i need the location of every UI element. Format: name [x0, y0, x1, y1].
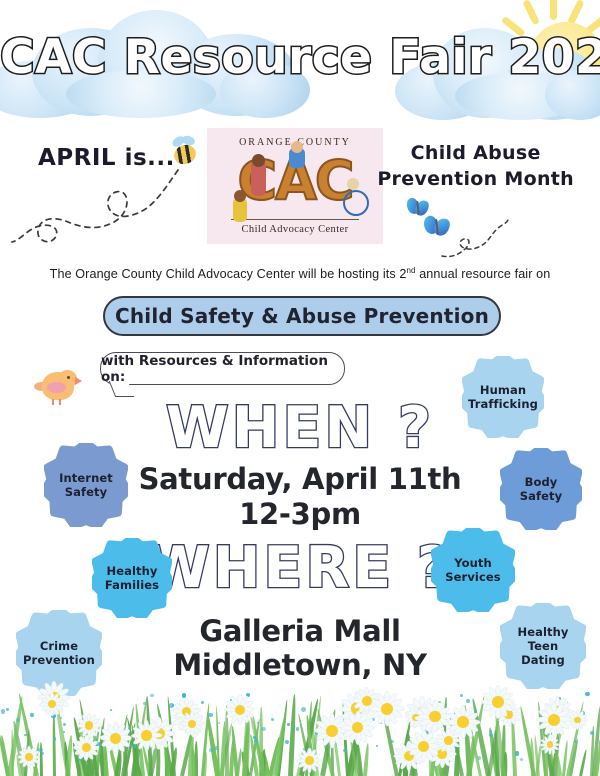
flower-bud — [287, 723, 290, 726]
daisy-center — [85, 721, 94, 730]
daisy-center — [48, 700, 56, 708]
badge-label-line: Teen — [517, 639, 568, 653]
topic-banner: Child Safety & Abuse Prevention — [103, 296, 501, 336]
intro-ordinal-suffix: nd — [406, 266, 415, 275]
daisy-icon — [418, 699, 453, 734]
flower-bud — [41, 752, 45, 756]
flower-bud — [301, 707, 306, 712]
flower-bud — [214, 746, 218, 750]
flower-bud — [6, 708, 9, 711]
flower-bud — [489, 733, 493, 737]
flower-bud — [30, 713, 34, 717]
topic-badge-label: YouthServices — [440, 556, 505, 584]
flyer-title-text: CAC Resource Fair 2026 — [0, 30, 600, 85]
bee-icon — [168, 137, 202, 167]
topic-badge-healthy-families: HealthyFamilies — [92, 538, 172, 618]
daisy-center — [547, 741, 554, 748]
daisy-icon — [340, 710, 375, 745]
badge-label-line: Healthy — [105, 564, 159, 578]
daisy-icon — [76, 713, 102, 739]
flower-bud — [585, 692, 589, 696]
topic-badge-label: BodySafety — [515, 475, 567, 503]
flower-bud — [520, 758, 523, 761]
daisy-center — [444, 736, 453, 745]
flower-bud — [296, 727, 300, 731]
flower-bud — [110, 709, 112, 711]
intro-text-before: The Orange County Child Advocacy Center … — [50, 267, 407, 281]
caption-line-2: Prevention Month — [377, 166, 574, 192]
logo-child-head — [234, 190, 246, 202]
topic-banner-label: Child Safety & Abuse Prevention — [115, 304, 489, 328]
topic-badge-body-safety: BodySafety — [500, 448, 582, 530]
flower-bud — [376, 745, 378, 747]
flower-bud — [261, 727, 266, 732]
badge-label-line: Safety — [59, 485, 113, 499]
speech-bubble-label: with Resources & Information on: — [101, 353, 344, 385]
logo-child-head — [252, 154, 265, 167]
badge-label-line: Families — [105, 578, 159, 592]
daisy-center — [305, 756, 314, 765]
badge-label-line: Trafficking — [468, 397, 538, 411]
topic-badge-label: HumanTrafficking — [463, 383, 543, 411]
flower-bud — [208, 713, 212, 717]
badge-label-line: Youth — [445, 556, 500, 570]
flower-bud — [218, 722, 220, 724]
daisy-center — [110, 733, 121, 744]
logo-bottom-text: Child Advocacy Center — [207, 224, 383, 235]
daisy-icon — [39, 691, 64, 716]
flower-bud — [466, 699, 470, 703]
topic-badge-youth-services: YouthServices — [431, 528, 515, 612]
topic-badge-label: InternetSafety — [54, 471, 118, 499]
daisy-center — [25, 753, 33, 761]
badge-label-line: Healthy — [517, 625, 568, 639]
logo-divider — [231, 219, 359, 220]
grass-blade — [579, 749, 587, 776]
topic-badge-label: CrimePrevention — [18, 639, 100, 667]
daisy-icon — [130, 719, 162, 751]
flower-bud — [227, 742, 229, 744]
cac-logo: ORANGE COUNTY CAC Child Advocacy Center — [207, 128, 383, 244]
prevention-month-caption: Child Abuse Prevention Month — [377, 140, 574, 192]
badge-label-line: Internet — [59, 471, 113, 485]
grass-blade — [363, 743, 370, 776]
badge-label-line: Crime — [23, 639, 95, 653]
flower-bud — [460, 694, 463, 697]
daisy-icon — [179, 711, 205, 737]
topic-badge-label: HealthyTeenDating — [512, 625, 573, 667]
daisy-center — [381, 703, 393, 715]
daisy-icon — [296, 747, 322, 773]
badge-label-line: Human — [468, 383, 538, 397]
flower-bud — [271, 718, 274, 721]
daisy-center — [429, 711, 440, 722]
daisy-meadow-border — [0, 678, 600, 776]
flyer-canvas: CAC Resource Fair 2026 APRIL is... ORANG… — [0, 0, 600, 776]
daisy-icon — [224, 694, 256, 726]
daisy-center — [141, 730, 152, 741]
badge-label-line: Dating — [517, 653, 568, 667]
flower-bud — [63, 723, 67, 727]
flower-bud — [574, 740, 577, 743]
flower-bud — [515, 751, 519, 755]
flower-bud — [60, 717, 63, 720]
caption-line-1: Child Abuse — [377, 140, 574, 166]
daisy-icon — [536, 702, 572, 738]
topic-badge-human-trafficking: HumanTrafficking — [462, 356, 544, 438]
flower-bud — [16, 718, 20, 722]
daisy-icon — [17, 746, 40, 769]
grass-blade — [52, 708, 56, 776]
logo-child-wheelchair — [343, 190, 369, 216]
daisy-center — [457, 716, 469, 728]
daisy-icon — [480, 685, 515, 720]
topic-badge-label: HealthyFamilies — [100, 564, 164, 592]
topic-badge-internet-safety: InternetSafety — [44, 443, 128, 527]
badge-label-line: Services — [445, 570, 500, 584]
daisy-icon — [99, 722, 132, 755]
page-title: CAC Resource Fair 2026 — [0, 30, 600, 85]
flower-bud — [477, 756, 481, 760]
flower-bud — [150, 694, 153, 697]
logo-child-head — [347, 178, 359, 190]
badge-label-line: Prevention — [23, 653, 95, 667]
butterfly-flight-path-icon — [440, 218, 510, 260]
bee-flight-path-icon — [10, 168, 200, 260]
intro-text-after: annual resource fair on — [416, 267, 551, 281]
badge-label-line: Body — [520, 475, 562, 489]
topic-badge-healthy-teen-dating: HealthyTeenDating — [500, 603, 586, 689]
daisy-center — [492, 696, 504, 708]
intro-sentence: The Orange County Child Advocacy Center … — [0, 266, 600, 281]
resources-speech-bubble: with Resources & Information on: — [100, 352, 345, 385]
flower-bud — [209, 748, 213, 752]
daisy-center — [326, 725, 338, 737]
flower-bud — [285, 740, 289, 744]
logo-child-head — [291, 141, 303, 153]
badge-label-line: Safety — [520, 489, 562, 503]
flower-bud — [53, 738, 55, 740]
flower-bud — [1, 709, 5, 713]
flower-bud — [63, 731, 65, 733]
